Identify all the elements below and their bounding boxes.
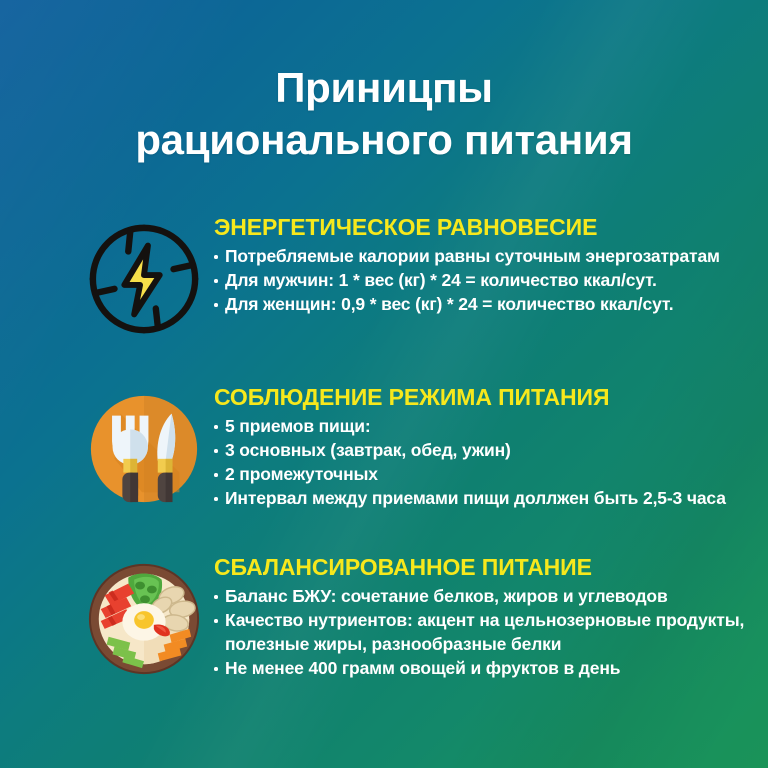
list-item: Для мужчин: 1 * вес (кг) * 24 = количест… [214,268,746,292]
list-item: Для женщин: 0,9 * вес (кг) * 24 = количе… [214,292,746,316]
list-item: Интервал между приемами пищи доллжен быт… [214,486,746,510]
list-item: 5 приемов пищи: [214,414,746,438]
section-meal-schedule: СОБЛЮДЕНИЕ РЕЖИМА ПИТАНИЯ 5 приемов пищи… [74,382,746,514]
title-line-2: рационального питания [0,114,768,166]
poster-title: Приницпы рационального питания [0,62,768,166]
infographic-poster: Приницпы рационального питания [0,0,768,768]
bullet-list: 5 приемов пищи: 3 основных (завтрак, обе… [214,414,746,510]
section-energy-balance-body: ЭНЕРГЕТИЧЕСКОЕ РАВНОВЕСИЕ Потребляемые к… [214,212,746,316]
list-item: Качество нутриентов: акцент на цельнозер… [214,608,746,656]
section-balanced-nutrition-body: СБАЛАНСИРОВАННОЕ ПИТАНИЕ Баланс БЖУ: соч… [214,552,746,680]
energy-cycle-bolt-icon [74,212,214,344]
section-heading: ЭНЕРГЕТИЧЕСКОЕ РАВНОВЕСИЕ [214,214,746,241]
list-item: 2 промежуточных [214,462,746,486]
list-item: Не менее 400 грамм овощей и фруктов в де… [214,656,746,680]
section-energy-balance: ЭНЕРГЕТИЧЕСКОЕ РАВНОВЕСИЕ Потребляемые к… [74,212,746,344]
title-line-1: Приницпы [0,62,768,114]
food-bowl-icon [74,552,214,684]
section-balanced-nutrition: СБАЛАНСИРОВАННОЕ ПИТАНИЕ Баланс БЖУ: соч… [74,552,746,684]
list-item: Баланс БЖУ: сочетание белков, жиров и уг… [214,584,746,608]
fork-knife-icon [74,382,214,514]
list-item: 3 основных (завтрак, обед, ужин) [214,438,746,462]
list-item: Потребляемые калории равны суточным энер… [214,244,746,268]
bullet-list: Потребляемые калории равны суточным энер… [214,244,746,316]
section-heading: СБАЛАНСИРОВАННОЕ ПИТАНИЕ [214,554,746,581]
section-meal-schedule-body: СОБЛЮДЕНИЕ РЕЖИМА ПИТАНИЯ 5 приемов пищи… [214,382,746,510]
section-heading: СОБЛЮДЕНИЕ РЕЖИМА ПИТАНИЯ [214,384,746,411]
bullet-list: Баланс БЖУ: сочетание белков, жиров и уг… [214,584,746,680]
